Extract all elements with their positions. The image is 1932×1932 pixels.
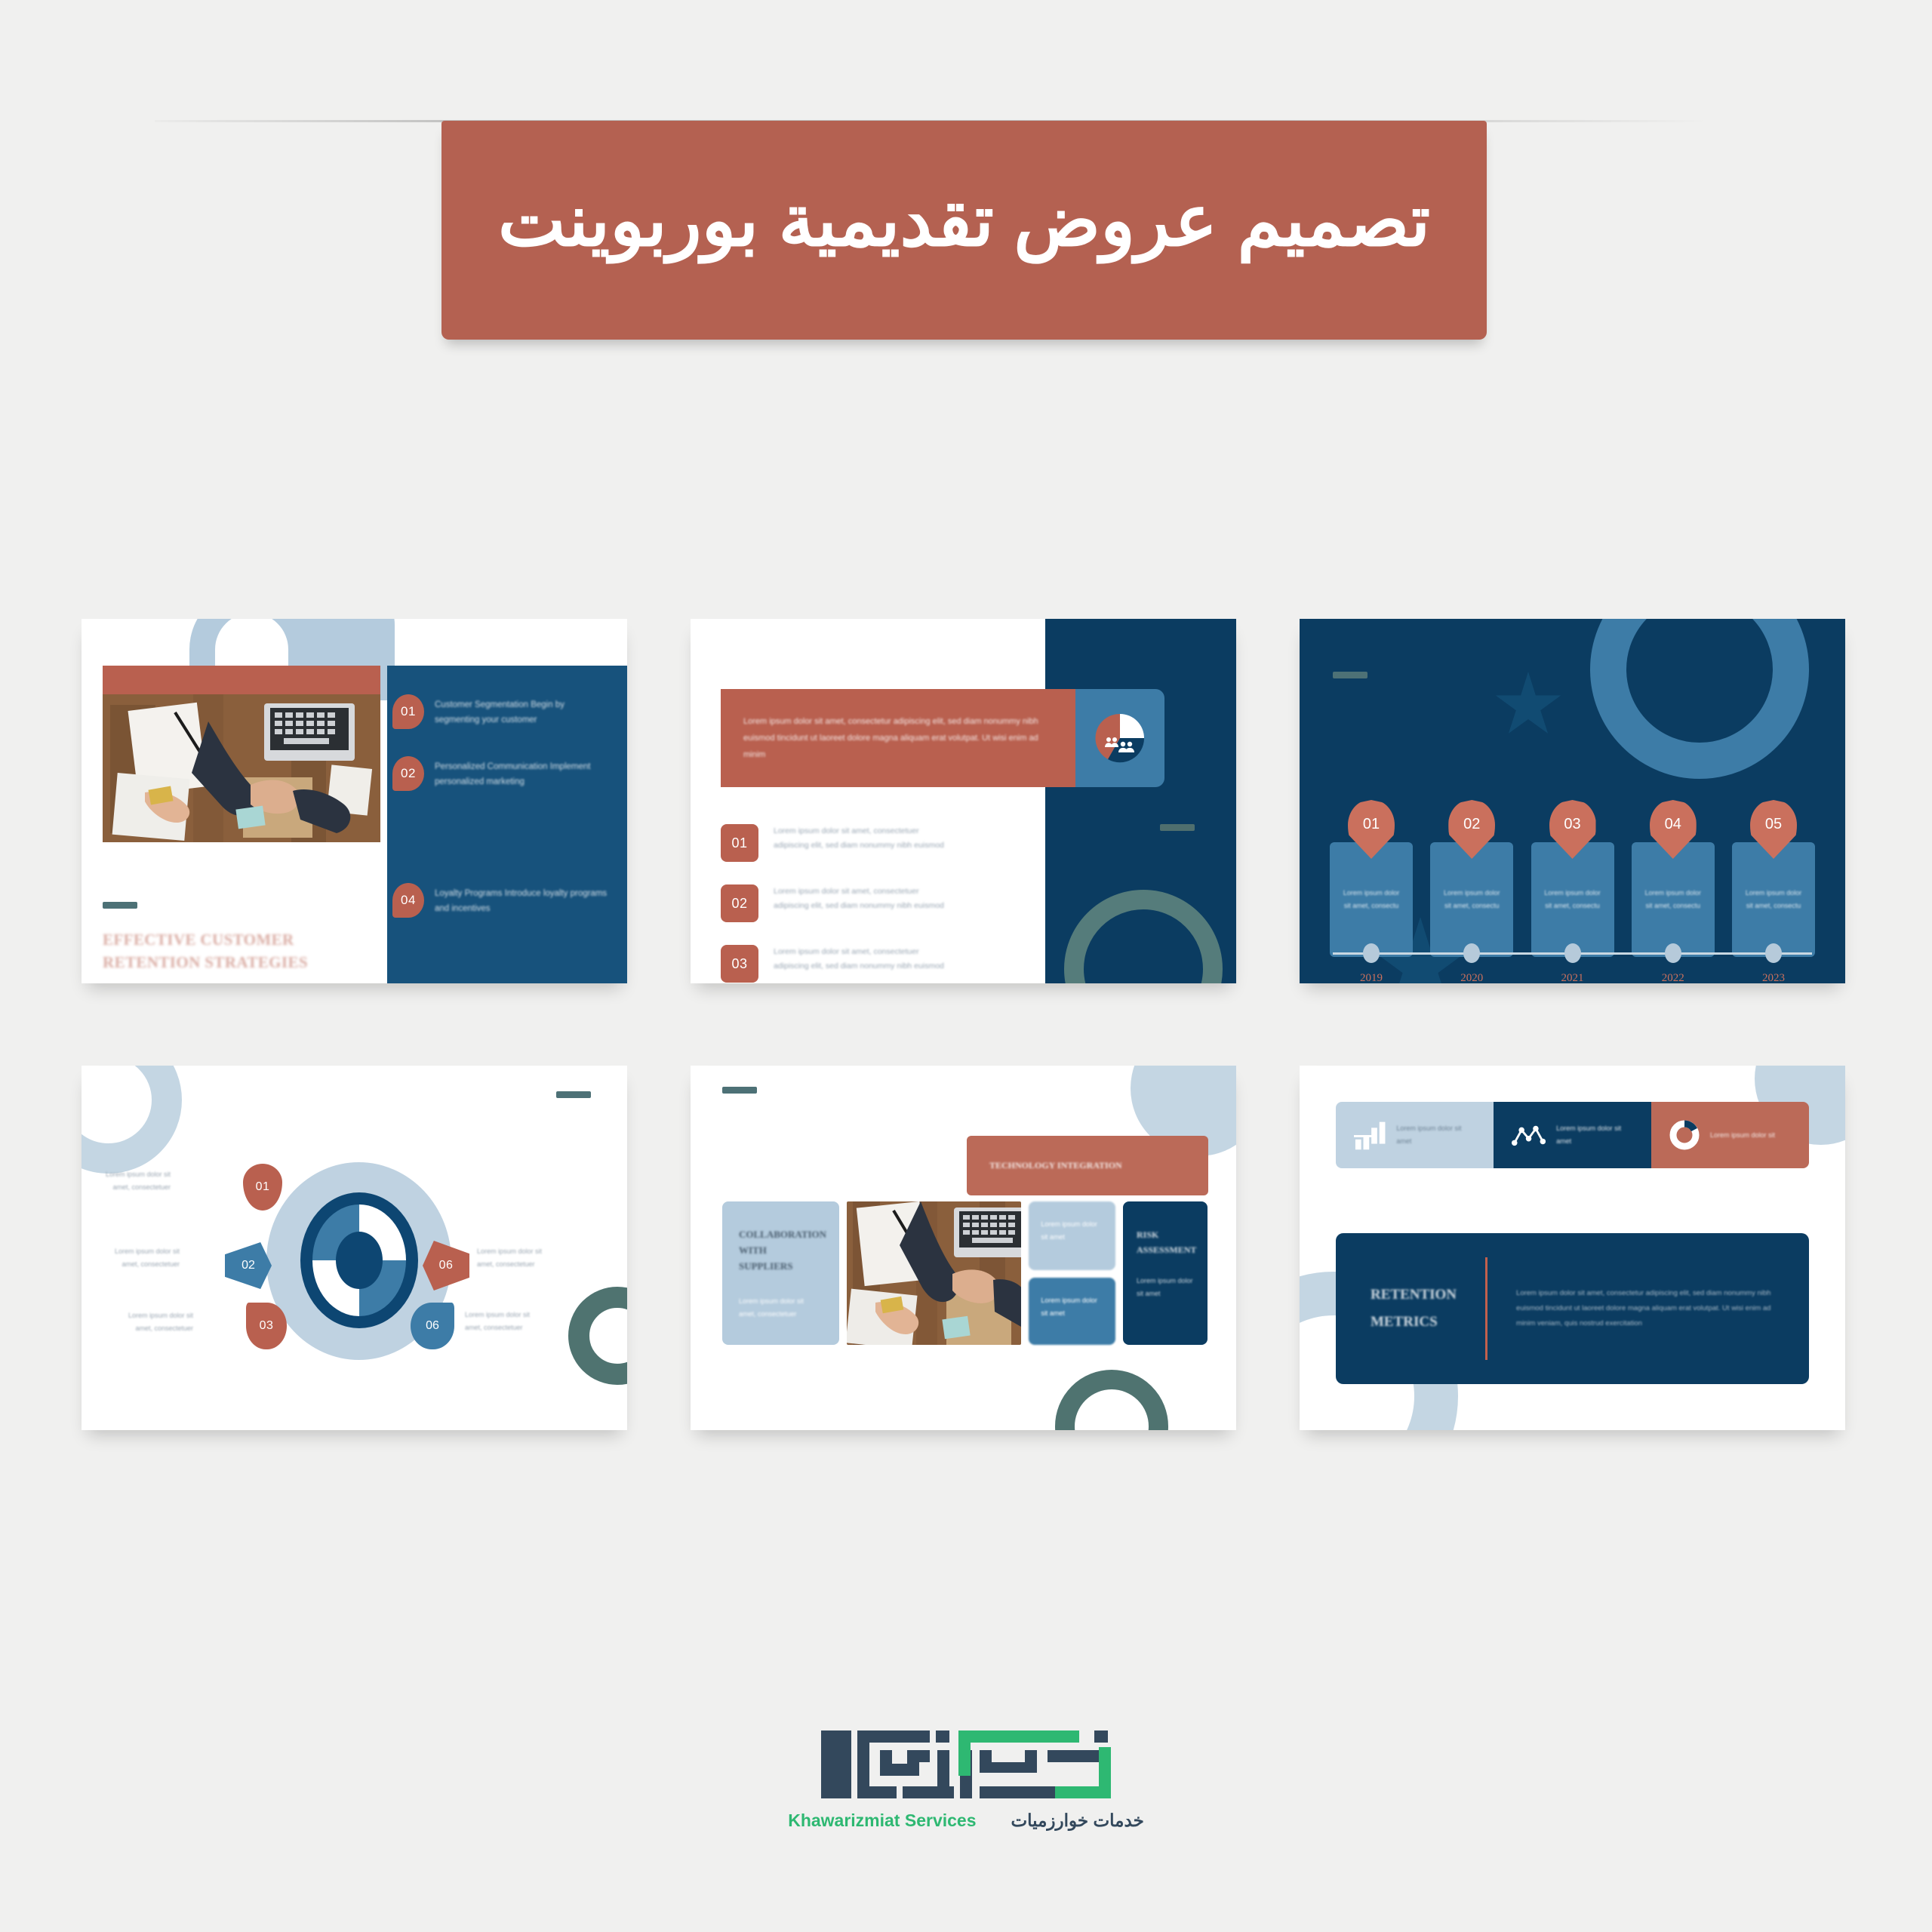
timeline-dot <box>1564 943 1581 963</box>
accent-tick <box>1160 824 1195 831</box>
node-badge-02[interactable]: 02 <box>225 1242 272 1289</box>
item-number-badge: 02 <box>392 756 424 791</box>
panel-title: RETENTION METRICS <box>1371 1281 1457 1336</box>
timeline-year-item: 2021 <box>1531 943 1614 983</box>
accent-tick <box>722 1087 757 1094</box>
node-badge-03[interactable]: 03 <box>246 1303 287 1349</box>
slide2-icon-box <box>1075 689 1164 787</box>
node-label: Lorem ipsum dolor sit amet, consectetuer <box>95 1168 171 1193</box>
slide1-photo <box>103 694 380 842</box>
accent-tick <box>556 1091 591 1098</box>
slide5-mid-cards: Lorem ipsum dolor sit amet Lorem ipsum d… <box>1029 1201 1115 1345</box>
timeline-card: Lorem ipsum dolor sit amet, consectu <box>1330 842 1413 957</box>
timeline-step[interactable]: 04 Lorem ipsum dolor sit amet, consectu <box>1632 800 1715 957</box>
timeline-year-label: 2020 <box>1430 972 1513 983</box>
bar-chart-icon <box>1354 1120 1386 1150</box>
timeline-year-item: 2019 <box>1330 943 1413 983</box>
card-text: Lorem ipsum dolor sit amet <box>1137 1275 1194 1300</box>
slide5-header-text: TECHNOLOGY INTEGRATION <box>989 1158 1122 1173</box>
list-item[interactable]: 03 Lorem ipsum dolor sit amet, consectet… <box>721 945 955 983</box>
circular-diagram: Lorem ipsum dolor sit amet, consectetuer… <box>82 1162 627 1366</box>
timeline-card: Lorem ipsum dolor sit amet, consectu <box>1531 842 1614 957</box>
item-number-badge: 03 <box>721 945 758 983</box>
slide-thumbnail-5[interactable]: TECHNOLOGY INTEGRATION COLLABORATION WIT… <box>691 1066 1236 1430</box>
timeline-card-text: Lorem ipsum dolor sit amet, consectu <box>1642 887 1704 912</box>
timeline-card: Lorem ipsum dolor sit amet, consectu <box>1732 842 1815 957</box>
panel-text: Lorem ipsum dolor sit amet, consectetur … <box>1516 1286 1774 1331</box>
card-collaboration[interactable]: COLLABORATION WITH SUPPLIERS Lorem ipsum… <box>722 1201 839 1345</box>
hero-banner: تصميم عروض تقديمية بوربوينت <box>441 121 1487 340</box>
timeline-year-label: 2022 <box>1632 972 1715 983</box>
item-number-badge: 01 <box>392 694 424 729</box>
node-label: Lorem ipsum dolor sit amet, consectetuer <box>477 1245 552 1270</box>
decor-arc-icon <box>82 1066 182 1174</box>
timeline-card-text: Lorem ipsum dolor sit amet, consectu <box>1542 887 1604 912</box>
metric-chip-bar: Lorem ipsum dolor sit amet Lorem ipsum d… <box>1336 1102 1809 1168</box>
item-number-badge: 02 <box>721 884 758 922</box>
item-text: Lorem ipsum dolor sit amet, consectetuer… <box>774 824 955 854</box>
timeline-dot <box>1765 943 1782 963</box>
slide-thumbnail-2[interactable]: Lorem ipsum dolor sit amet, consectetur … <box>691 619 1236 983</box>
decor-ring-icon <box>1590 619 1809 779</box>
card-title: COLLABORATION WITH SUPPLIERS <box>739 1227 823 1274</box>
slide1-item-list: 01 Customer Segmentation Begin by segmen… <box>392 694 611 918</box>
timeline-step[interactable]: 03 Lorem ipsum dolor sit amet, consectu <box>1531 800 1614 957</box>
slide-grid: EFFECTIVE CUSTOMER RETENTION STRATEGIES … <box>82 619 1844 1430</box>
slide1-title: EFFECTIVE CUSTOMER RETENTION STRATEGIES <box>103 928 329 974</box>
card-mid-light[interactable]: Lorem ipsum dolor sit amet <box>1029 1201 1115 1270</box>
decor-star-icon <box>1494 672 1562 740</box>
logo-text-english: Khawarizmiat Services <box>788 1810 976 1831</box>
item-text: Personalized Communication Implement per… <box>435 756 611 789</box>
chip-text: Lorem ipsum dolor sit amet <box>1396 1122 1475 1147</box>
card-text: Lorem ipsum dolor sit amet, consectetuer <box>739 1295 823 1321</box>
chip-text: Lorem ipsum dolor sit amet <box>1556 1122 1633 1147</box>
timeline-year-item: 2022 <box>1632 943 1715 983</box>
logo-text-arabic: خدمات خوارزميات <box>1011 1810 1144 1831</box>
item-text: Loyalty Programs Introduce loyalty progr… <box>435 883 611 916</box>
item-number-badge: 04 <box>392 883 424 918</box>
list-item[interactable]: 01 Lorem ipsum dolor sit amet, consectet… <box>721 824 955 862</box>
timeline-dot <box>1463 943 1480 963</box>
node-label: Lorem ipsum dolor sit amet, consectetuer <box>104 1245 180 1270</box>
donut-chart-icon <box>1669 1120 1700 1150</box>
timeline-year-label: 2021 <box>1531 972 1614 983</box>
list-item[interactable]: 04 Loyalty Programs Introduce loyalty pr… <box>392 883 611 918</box>
handshake-desk-photo <box>847 1201 1021 1345</box>
list-item[interactable]: 01 Customer Segmentation Begin by segmen… <box>392 694 611 729</box>
metric-chip-line-chart[interactable]: Lorem ipsum dolor sit amet <box>1494 1102 1651 1168</box>
timeline-card-text: Lorem ipsum dolor sit amet, consectu <box>1340 887 1402 912</box>
slide-thumbnail-4[interactable]: Lorem ipsum dolor sit amet, consectetuer… <box>82 1066 627 1430</box>
timeline-dot <box>1363 943 1380 963</box>
timeline-year-label: 2023 <box>1732 972 1815 983</box>
timeline-card: Lorem ipsum dolor sit amet, consectu <box>1430 842 1513 957</box>
khawarizmiat-logo-icon <box>808 1717 1124 1800</box>
slide2-banner: Lorem ipsum dolor sit amet, consectetur … <box>721 689 1075 787</box>
footer: Khawarizmiat Services خدمات خوارزميات <box>0 1717 1932 1831</box>
timeline-step[interactable]: 01 Lorem ipsum dolor sit amet, consectu <box>1330 800 1413 957</box>
slide1-accent-bar <box>103 666 380 694</box>
pie-people-icon <box>1093 711 1147 765</box>
decor-ring-icon <box>1055 1370 1168 1430</box>
item-text: Lorem ipsum dolor sit amet, consectetuer… <box>774 945 955 974</box>
metric-chip-bar-chart[interactable]: Lorem ipsum dolor sit amet <box>1336 1102 1494 1168</box>
item-text: Customer Segmentation Begin by segmentin… <box>435 694 611 728</box>
chip-text: Lorem ipsum dolor sit <box>1710 1129 1775 1142</box>
page-title: تصميم عروض تقديمية بوربوينت <box>498 182 1430 261</box>
donut-target-icon <box>299 1191 420 1331</box>
slide2-banner-text: Lorem ipsum dolor sit amet, consectetur … <box>743 713 1053 763</box>
timeline-step[interactable]: 05 Lorem ipsum dolor sit amet, consectu <box>1732 800 1815 957</box>
retention-metrics-panel[interactable]: RETENTION METRICS Lorem ipsum dolor sit … <box>1336 1233 1809 1384</box>
card-title: RISK ASSESSMENT <box>1137 1227 1194 1258</box>
timeline-card-text: Lorem ipsum dolor sit amet, consectu <box>1743 887 1804 912</box>
node-badge-06-bottom[interactable]: 06 <box>411 1303 454 1349</box>
handshake-desk-photo <box>103 694 380 842</box>
timeline-cards: 01 Lorem ipsum dolor sit amet, consectu … <box>1330 800 1815 957</box>
card-risk-assessment[interactable]: RISK ASSESSMENT Lorem ipsum dolor sit am… <box>1123 1201 1207 1345</box>
timeline-step[interactable]: 02 Lorem ipsum dolor sit amet, consectu <box>1430 800 1513 957</box>
item-text: Lorem ipsum dolor sit amet, consectetuer… <box>774 884 955 914</box>
list-item[interactable]: 02 Lorem ipsum dolor sit amet, consectet… <box>721 884 955 922</box>
node-label: Lorem ipsum dolor sit amet, consectetuer <box>118 1309 193 1334</box>
item-number-badge: 01 <box>721 824 758 862</box>
slide5-photo <box>847 1201 1021 1345</box>
slide-thumbnail-1[interactable]: EFFECTIVE CUSTOMER RETENTION STRATEGIES … <box>82 619 627 983</box>
timeline-year-item: 2023 <box>1732 943 1815 983</box>
timeline-dot <box>1665 943 1681 963</box>
logo-subtitle: Khawarizmiat Services خدمات خوارزميات <box>788 1810 1144 1831</box>
slide5-cards: COLLABORATION WITH SUPPLIERS Lorem ipsum… <box>722 1201 1207 1345</box>
panel-divider <box>1485 1257 1487 1360</box>
timeline-years: 2019 2020 2021 2022 2023 <box>1330 943 1815 983</box>
node-label: Lorem ipsum dolor sit amet, consectetuer <box>465 1309 540 1334</box>
card-mid-blue[interactable]: Lorem ipsum dolor sit amet <box>1029 1278 1115 1345</box>
accent-tick <box>1333 672 1367 678</box>
slide5-header: TECHNOLOGY INTEGRATION <box>967 1136 1208 1195</box>
accent-tick <box>103 902 137 909</box>
metric-chip-donut-chart[interactable]: Lorem ipsum dolor sit <box>1651 1102 1809 1168</box>
list-item[interactable]: 02 Personalized Communication Implement … <box>392 756 611 791</box>
line-chart-icon <box>1512 1122 1546 1148</box>
slide2-item-list: 01 Lorem ipsum dolor sit amet, consectet… <box>721 824 955 983</box>
timeline-year-item: 2020 <box>1430 943 1513 983</box>
timeline-card: Lorem ipsum dolor sit amet, consectu <box>1632 842 1715 957</box>
timeline-card-text: Lorem ipsum dolor sit amet, consectu <box>1441 887 1503 912</box>
slide-thumbnail-6[interactable]: Lorem ipsum dolor sit amet Lorem ipsum d… <box>1300 1066 1845 1430</box>
timeline-year-label: 2019 <box>1330 972 1413 983</box>
slide-thumbnail-3[interactable]: 01 Lorem ipsum dolor sit amet, consectu … <box>1300 619 1845 983</box>
node-badge-01[interactable]: 01 <box>243 1164 282 1211</box>
